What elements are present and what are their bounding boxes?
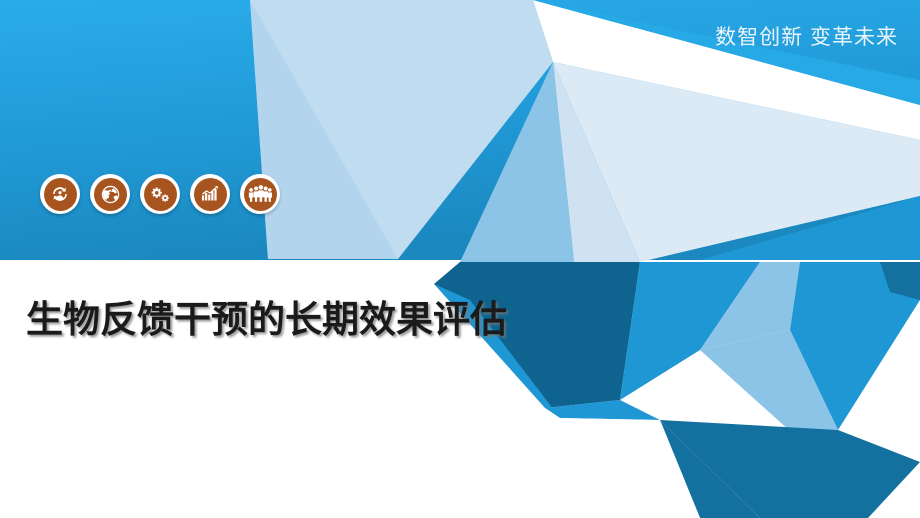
- people-group-icon: [248, 183, 272, 205]
- icon-strip: [40, 174, 280, 214]
- gears-icon: [149, 183, 172, 206]
- icon-badge-people-group[interactable]: [240, 174, 280, 214]
- icon-disc: [144, 178, 177, 211]
- icon-disc: [94, 178, 127, 211]
- icon-disc: [244, 178, 277, 211]
- icon-badge-bar-chart[interactable]: [190, 174, 230, 214]
- globe-icon: [100, 184, 121, 205]
- icon-disc: [44, 178, 77, 211]
- icon-badge-recycle-person[interactable]: [40, 174, 80, 214]
- icon-disc: [194, 178, 227, 211]
- presentation-slide: 数智创新 变革未来: [0, 0, 920, 518]
- page-title: 生物反馈干预的长期效果评估: [26, 296, 546, 345]
- bar-chart-icon: [199, 183, 221, 205]
- recycle-person-icon: [49, 183, 71, 205]
- icon-badge-gears[interactable]: [140, 174, 180, 214]
- slide-tagline: 数智创新 变革未来: [715, 27, 898, 48]
- icon-badge-globe[interactable]: [90, 174, 130, 214]
- background-artwork: [0, 0, 920, 518]
